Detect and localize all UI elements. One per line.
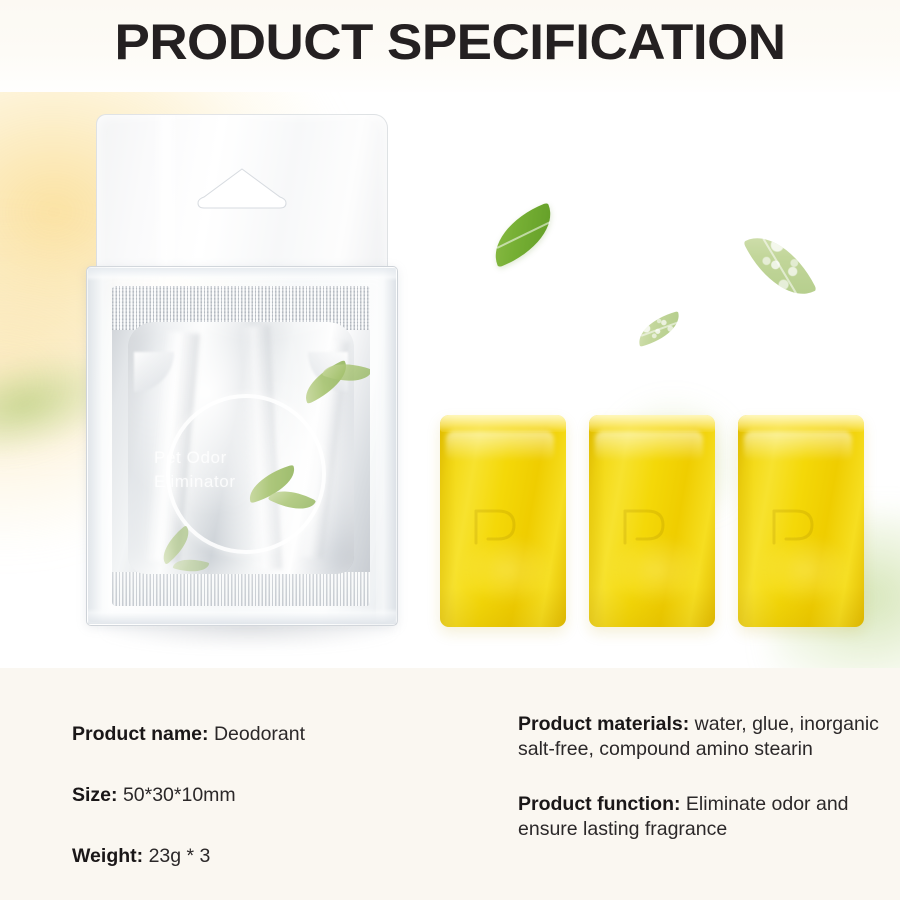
bar-embossed-logo-icon — [619, 503, 675, 549]
spec-row-product-function: Product function: Eliminate odor and ens… — [518, 792, 880, 842]
bar-embossed-logo-icon — [768, 503, 824, 549]
spec-column-right: Product materials: water, glue, inorgani… — [518, 712, 880, 842]
bar-embossed-logo-icon — [470, 503, 526, 549]
specification-section: Product name: Deodorant Size: 50*30*10mm… — [0, 668, 900, 900]
deodorant-bar-1 — [440, 415, 566, 627]
bar-top-cap — [738, 415, 864, 432]
product-photo-stage: Pet Odor Eliminator — [0, 92, 900, 670]
box-left-face — [88, 268, 112, 622]
pouch-label-line-2: Eliminator — [154, 470, 344, 494]
bar-top-cap — [440, 415, 566, 432]
bar-bottom-shade — [440, 587, 566, 627]
foil-pouch: Pet Odor Eliminator — [112, 286, 370, 606]
box-right-face — [376, 268, 396, 622]
box-top-lip — [88, 268, 396, 281]
spec-column-left: Product name: Deodorant Size: 50*30*10mm… — [72, 722, 472, 869]
spec-label: Product materials: — [518, 713, 689, 735]
bar-highlight — [595, 431, 703, 461]
bar-top-cap — [589, 415, 715, 432]
spec-label: Product function: — [518, 793, 680, 815]
pouch-bottom-crimp-seal — [112, 572, 370, 606]
bar-highlight — [446, 431, 554, 461]
bar-highlight — [744, 431, 852, 461]
hang-tab-sheen — [153, 115, 179, 275]
deodorant-bar-3 — [738, 415, 864, 627]
spec-label: Product name: — [72, 723, 209, 745]
pouch-label-text: Pet Odor Eliminator — [154, 446, 344, 494]
leaf-vein — [496, 221, 550, 248]
pouch-body: Pet Odor Eliminator — [128, 322, 354, 574]
floating-leaf-pale-large-icon — [743, 222, 817, 310]
floating-leaf-dark-green-icon — [483, 202, 564, 267]
spec-row-product-name: Product name: Deodorant — [72, 722, 472, 747]
page-title: PRODUCT SPECIFICATION — [0, 14, 900, 70]
spec-row-weight: Weight: 23g * 3 — [72, 844, 472, 869]
bar-bottom-shade — [738, 587, 864, 627]
floating-leaf-pale-small-icon — [634, 311, 685, 347]
deodorant-bar-2 — [589, 415, 715, 627]
product-specification-page: PRODUCT SPECIFICATION — [0, 0, 900, 900]
bar-bottom-shade — [589, 587, 715, 627]
spec-value: 50*30*10mm — [123, 784, 236, 806]
spec-label: Weight: — [72, 845, 143, 867]
box-bottom-lip — [88, 608, 396, 624]
spec-row-size: Size: 50*30*10mm — [72, 783, 472, 808]
spec-value: Deodorant — [214, 723, 305, 745]
spec-label: Size: — [72, 784, 118, 806]
product-package: Pet Odor Eliminator — [86, 114, 406, 644]
spec-row-product-materials: Product materials: water, glue, inorgani… — [518, 712, 880, 762]
spec-value: 23g * 3 — [149, 845, 211, 867]
pouch-label-line-1: Pet Odor — [154, 446, 344, 470]
package-hang-tab — [96, 114, 388, 275]
euro-slot-hang-hole-icon — [194, 167, 290, 209]
